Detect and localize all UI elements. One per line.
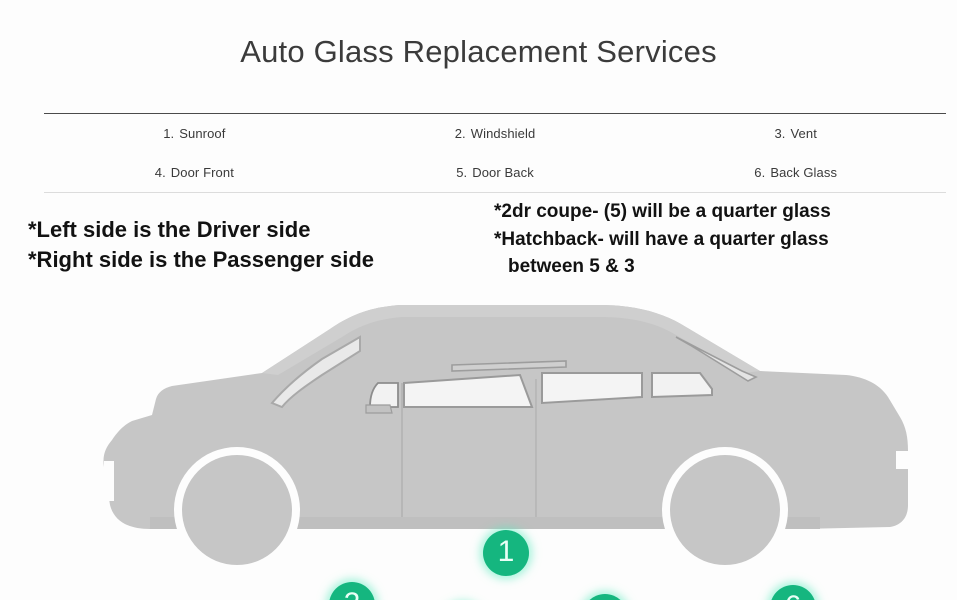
legend-label: Door Back <box>472 165 534 180</box>
note-driver-side: *Left side is the Driver side <box>28 215 374 245</box>
marker-1-sunroof[interactable]: 1 <box>483 530 529 576</box>
marker-label: 6 <box>785 592 802 600</box>
note-hatchback: *Hatchback- will have a quarter glass <box>494 226 831 254</box>
legend-label: Windshield <box>471 126 536 141</box>
legend-row: 1.Sunroof 2.Windshield 3.Vent <box>44 114 946 153</box>
marker-label: 2 <box>344 589 361 600</box>
car-side-view-graphic <box>0 255 957 585</box>
legend-item-sunroof: 1.Sunroof <box>44 126 345 141</box>
door-back-glass <box>542 373 642 403</box>
legend-label: Door Front <box>171 165 234 180</box>
legend-number: 2. <box>455 126 466 141</box>
legend-item-vent: 3.Vent <box>645 126 946 141</box>
side-mirror <box>366 405 392 413</box>
legend-number: 3. <box>774 126 785 141</box>
marker-5-door-back[interactable]: 5 <box>582 594 628 600</box>
front-wheel <box>182 455 292 565</box>
legend-item-back-glass: 6.Back Glass <box>645 165 946 180</box>
rear-bumper-notch <box>896 451 910 469</box>
car-illustration: glass.com 1 2 3 4 5 3 6 <box>0 255 957 585</box>
legend-label: Back Glass <box>770 165 837 180</box>
legend-number: 5. <box>456 165 467 180</box>
legend-item-windshield: 2.Windshield <box>345 126 646 141</box>
rear-wheel <box>670 455 780 565</box>
legend-row: 4.Door Front 5.Door Back 6.Back Glass <box>44 153 946 192</box>
legend-number: 4. <box>155 165 166 180</box>
page-title: Auto Glass Replacement Services <box>0 34 957 70</box>
legend-label: Vent <box>790 126 816 141</box>
legend-number: 6. <box>754 165 765 180</box>
legend-item-door-back: 5.Door Back <box>345 165 646 180</box>
note-coupe: *2dr coupe- (5) will be a quarter glass <box>494 198 831 226</box>
legend-number: 1. <box>163 126 174 141</box>
vent-glass-front <box>370 383 398 407</box>
marker-6-back-glass[interactable]: 6 <box>770 585 816 600</box>
car-front-notch <box>104 461 114 501</box>
legend-table: 1.Sunroof 2.Windshield 3.Vent 4.Door Fro… <box>44 113 946 193</box>
legend-label: Sunroof <box>179 126 225 141</box>
legend-item-door-front: 4.Door Front <box>44 165 345 180</box>
auto-glass-diagram-page: Auto Glass Replacement Services 1.Sunroo… <box>0 0 957 600</box>
marker-label: 1 <box>498 537 515 567</box>
vent-glass-rear <box>652 373 712 397</box>
